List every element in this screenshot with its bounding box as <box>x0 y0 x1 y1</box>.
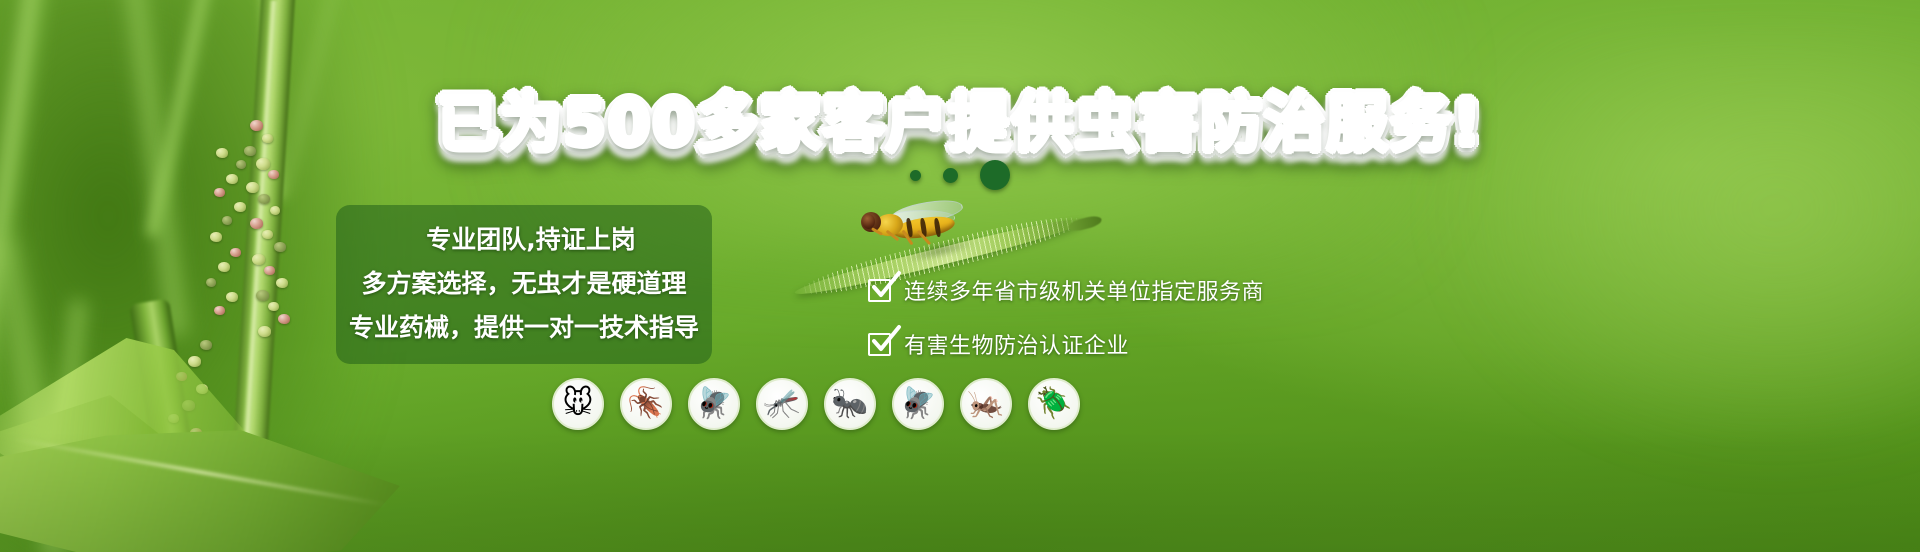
checkbox-checked-icon <box>868 279 891 302</box>
aphid-nodule <box>250 218 263 229</box>
aphid-nodule <box>268 302 279 311</box>
aphid-nodule <box>206 278 216 287</box>
mouse-icon-glyph: 🐭 <box>562 389 593 419</box>
flea-icon-glyph: 🦗 <box>967 389 1004 419</box>
aphid-nodule <box>200 340 212 350</box>
bedbug-icon: 🪲臭虫 <box>1028 378 1080 430</box>
credential-label: 有害生物防治认证企业 <box>904 328 1129 360</box>
ant-icon-glyph: 🐜 <box>831 389 868 419</box>
aphid-nodule <box>258 326 271 337</box>
pest-type-icon-row: 🐭鼠🪳蟑螂🪰蝇🦟蚊🐜蚁🪰绿蝇🦗跳蚤🪲臭虫 <box>552 378 1080 430</box>
checkbox-checked-icon <box>868 333 891 356</box>
aphid-nodule <box>210 232 222 242</box>
dot-medium-icon <box>943 168 958 183</box>
aphid-nodule <box>226 292 238 302</box>
aphid-nodule <box>230 248 241 257</box>
aphid-nodule <box>218 262 230 272</box>
pest-control-promo-banner: 已为500多家客户提供虫害防治服务! 专业团队,持证上岗 多方案选择，无虫才是硬… <box>0 0 1920 552</box>
blowfly-icon: 🪰绿蝇 <box>892 378 944 430</box>
housefly-icon: 🪰蝇 <box>688 378 740 430</box>
credentials-checklist: 连续多年省市级机关单位指定服务商 有害生物防治认证企业 <box>868 274 1388 382</box>
credential-item: 连续多年省市级机关单位指定服务商 <box>868 274 1388 306</box>
flea-icon: 🦗跳蚤 <box>960 378 1012 430</box>
aphid-nodule <box>234 202 246 212</box>
dot-small-icon <box>910 170 921 181</box>
dot-large-icon <box>980 160 1010 190</box>
aphid-nodule <box>222 216 232 225</box>
mosquito-icon-glyph: 🦟 <box>763 389 800 419</box>
banner-headline: 已为500多家客户提供虫害防治服务! <box>0 74 1920 163</box>
bedbug-icon-glyph: 🪲 <box>1035 389 1072 419</box>
aphid-nodule <box>214 306 225 315</box>
credential-label: 连续多年省市级机关单位指定服务商 <box>904 274 1264 306</box>
aphid-nodule <box>256 290 269 301</box>
mosquito-icon: 🦟蚊 <box>756 378 808 430</box>
housefly-icon-glyph: 🪰 <box>695 389 732 419</box>
selling-point-line-2: 多方案选择，无虫才是硬道理 <box>336 270 712 299</box>
cockroach-icon-glyph: 🪳 <box>627 389 664 419</box>
selling-point-line-3: 专业药械，提供一对一技术指导 <box>336 314 712 343</box>
selling-point-line-1: 专业团队,持证上岗 <box>336 226 712 255</box>
banner-headline-text: 已为500多家客户提供虫害防治服务! <box>437 74 1482 163</box>
aphid-nodule <box>270 206 280 215</box>
ant-icon: 🐜蚁 <box>824 378 876 430</box>
aphid-nodule <box>262 230 273 239</box>
mouse-icon: 🐭鼠 <box>552 378 604 430</box>
blowfly-icon-glyph: 🪰 <box>899 389 936 419</box>
hoverfly-insect-icon <box>845 196 965 252</box>
aphid-nodule <box>278 314 290 324</box>
credential-item: 有害生物防治认证企业 <box>868 328 1388 360</box>
aphid-nodule <box>264 266 275 275</box>
aphid-nodule <box>274 242 286 252</box>
aphid-nodule <box>276 278 288 288</box>
aphid-nodule <box>252 254 265 265</box>
aphid-nodule <box>188 356 201 367</box>
cockroach-icon: 🪳蟑螂 <box>620 378 672 430</box>
selling-points-panel: 专业团队,持证上岗 多方案选择，无虫才是硬道理 专业药械，提供一对一技术指导 <box>336 205 712 364</box>
aphid-nodule <box>258 194 270 204</box>
decorative-dot-row <box>0 160 1920 190</box>
